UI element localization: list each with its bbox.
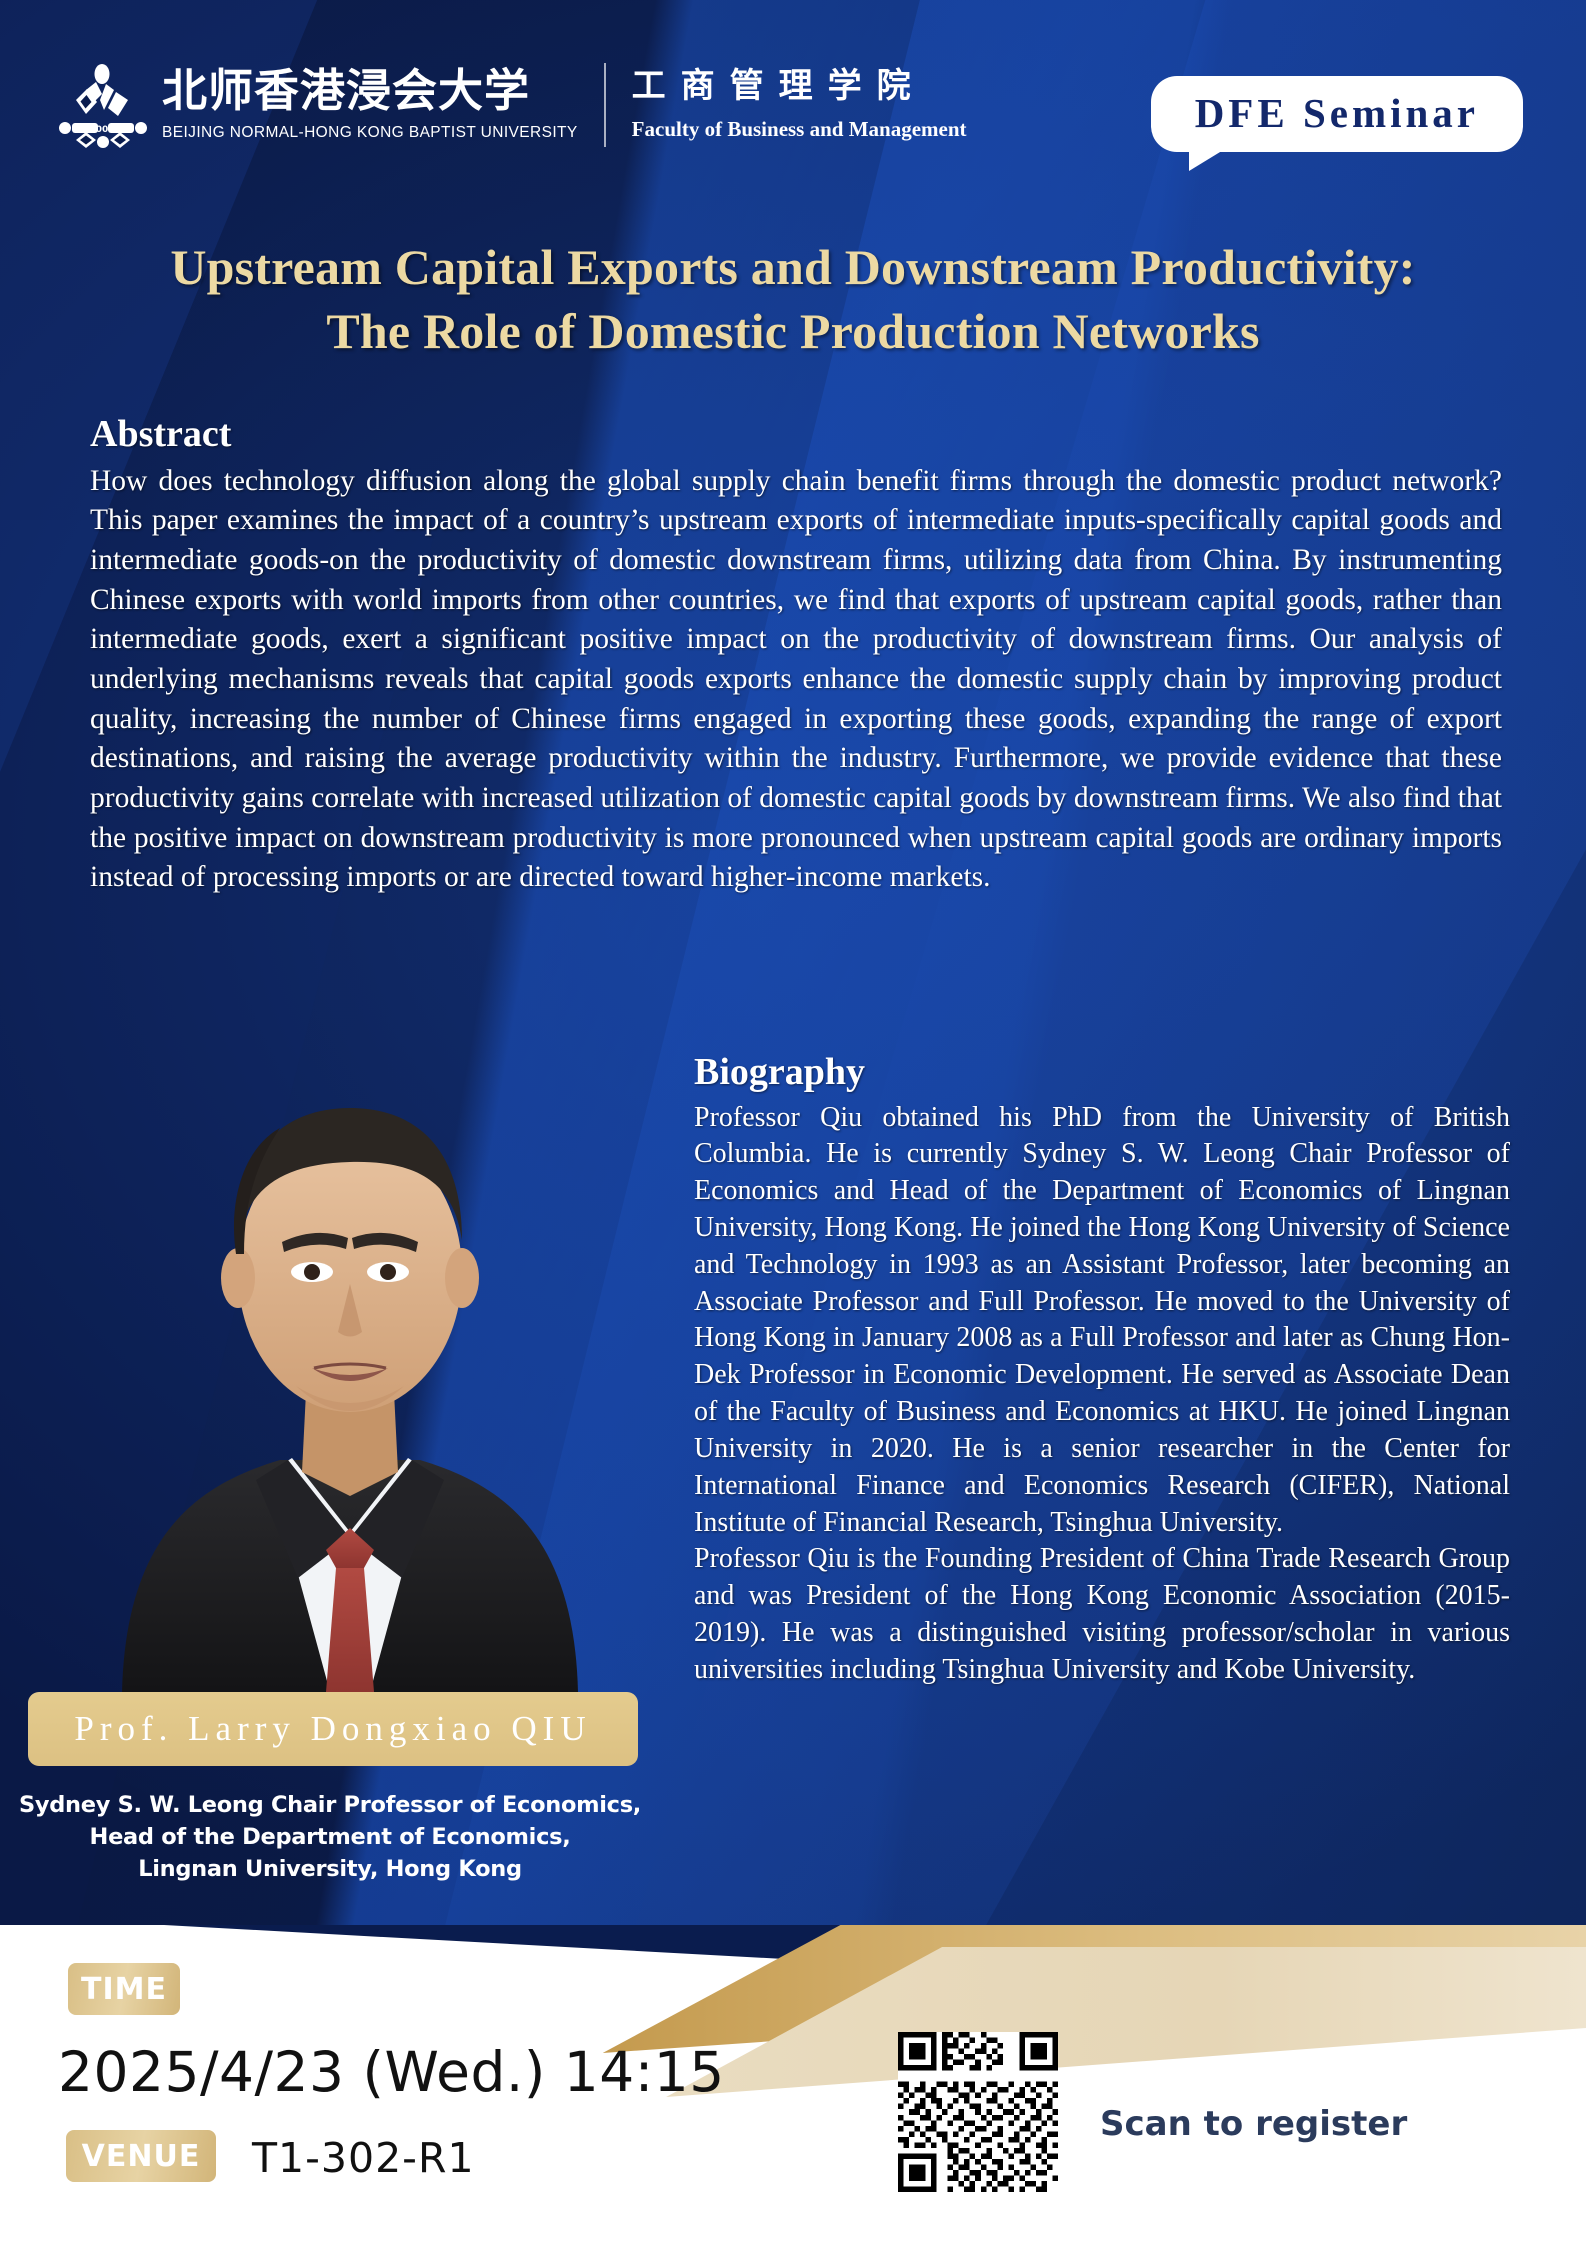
venue-label-pill: VENUE bbox=[66, 2130, 216, 2182]
university-emblem-icon: 2005 bbox=[56, 62, 148, 148]
faculty-name-en: Faculty of Business and Management bbox=[632, 117, 967, 142]
seminar-title: Upstream Capital Exports and Downstream … bbox=[90, 236, 1496, 363]
university-name-block: 北师香港浸会大学 BEIJING NORMAL-HONG KONG BAPTIS… bbox=[162, 68, 578, 142]
institution-lockup: 2005 北师香港浸会大学 BEIJING NORMAL-HONG KONG B… bbox=[56, 62, 967, 148]
speaker-credential-line-3: Lingnan University, Hong Kong bbox=[0, 1854, 660, 1886]
speaker-credential-line-1: Sydney S. W. Leong Chair Professor of Ec… bbox=[0, 1790, 660, 1822]
biography-heading: Biography bbox=[694, 1050, 1510, 1096]
time-label-pill: TIME bbox=[68, 1963, 180, 2015]
faculty-name-block: 工商管理学院 Faculty of Business and Managemen… bbox=[632, 68, 967, 141]
biography-paragraph-2: Professor Qiu is the Founding President … bbox=[694, 1541, 1510, 1688]
seminar-venue: T1-302-R1 bbox=[252, 2134, 475, 2182]
abstract-heading: Abstract bbox=[90, 412, 1502, 458]
faculty-name-cn: 工商管理学院 bbox=[632, 68, 967, 105]
abstract-section: Abstract How does technology diffusion a… bbox=[90, 412, 1502, 898]
speaker-portrait bbox=[30, 972, 670, 1692]
biography-paragraph-1: Professor Qiu obtained his PhD from the … bbox=[694, 1100, 1510, 1542]
seminar-type-badge: DFE Seminar bbox=[1151, 76, 1523, 152]
badge-tail-shape bbox=[1189, 149, 1225, 171]
header-divider bbox=[604, 63, 606, 147]
speaker-credentials: Sydney S. W. Leong Chair Professor of Ec… bbox=[0, 1790, 660, 1886]
poster-header: 2005 北师香港浸会大学 BEIJING NORMAL-HONG KONG B… bbox=[0, 0, 1586, 215]
biography-section: Biography Professor Qiu obtained his PhD… bbox=[694, 1050, 1510, 1689]
registration-qr-code-icon[interactable] bbox=[898, 2032, 1058, 2192]
university-name-en: BEIJING NORMAL-HONG KONG BAPTIST UNIVERS… bbox=[162, 124, 578, 142]
seminar-datetime: 2025/4/23 (Wed.) 14:15 bbox=[58, 2040, 725, 2104]
seminar-title-line2: The Role of Domestic Production Networks bbox=[90, 300, 1496, 364]
emblem-year-label: 2005 bbox=[89, 125, 114, 135]
seminar-title-line1: Upstream Capital Exports and Downstream … bbox=[90, 236, 1496, 300]
seminar-type-label: DFE Seminar bbox=[1195, 89, 1479, 137]
scan-to-register-label: Scan to register bbox=[1100, 2104, 1407, 2144]
abstract-body: How does technology diffusion along the … bbox=[90, 462, 1502, 898]
speaker-credential-line-2: Head of the Department of Economics, bbox=[0, 1822, 660, 1854]
speaker-name-banner: Prof. Larry Dongxiao QIU bbox=[28, 1692, 638, 1766]
university-name-cn: 北师香港浸会大学 bbox=[162, 68, 578, 115]
seminar-poster: 2005 北师香港浸会大学 BEIJING NORMAL-HONG KONG B… bbox=[0, 0, 1586, 2245]
speaker-photo-illustration bbox=[30, 972, 670, 1692]
speaker-name: Prof. Larry Dongxiao QIU bbox=[74, 1709, 591, 1749]
